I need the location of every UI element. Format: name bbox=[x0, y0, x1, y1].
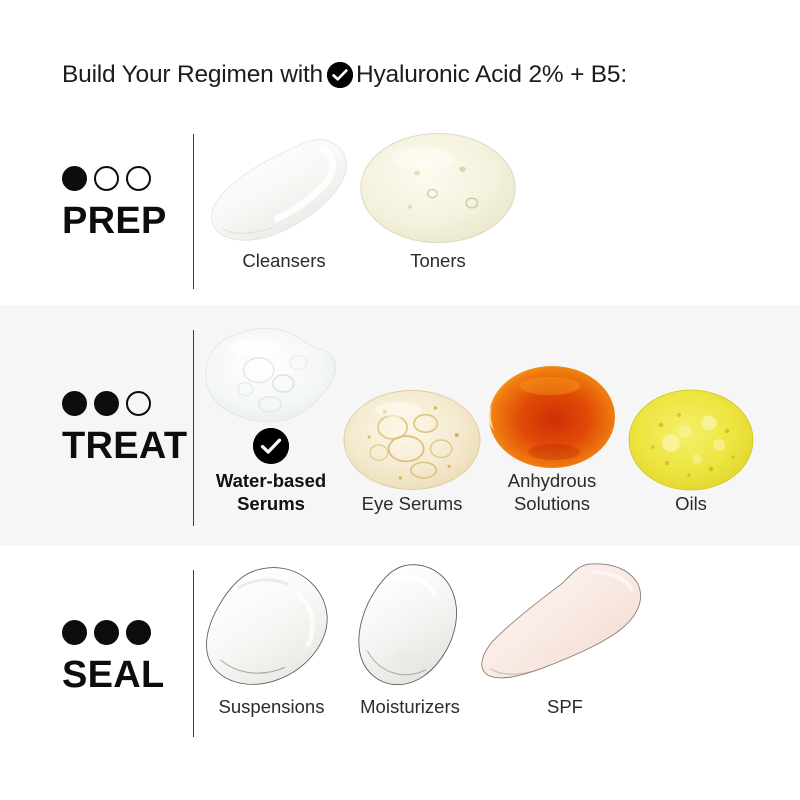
section-divider-prep bbox=[193, 134, 194, 289]
anhydrous-drop-swatch bbox=[482, 364, 622, 470]
stage-label-seal: SEAL bbox=[62, 620, 187, 694]
spf-smear-swatch bbox=[475, 556, 655, 696]
progress-dot-empty bbox=[126, 391, 151, 416]
stage-label-treat: TREAT bbox=[62, 391, 187, 465]
product-label-toners: Toners bbox=[410, 250, 466, 273]
oil-drop-swatch bbox=[622, 387, 760, 493]
product-item-water-based-serums[interactable]: Water-based Serums bbox=[200, 322, 342, 515]
page-title-suffix: Hyaluronic Acid 2% + B5: bbox=[356, 61, 627, 89]
stage-name-seal: SEAL bbox=[62, 656, 187, 694]
section-divider-seal bbox=[193, 570, 194, 737]
stage-label-prep: PREP bbox=[62, 166, 187, 240]
product-item-spf[interactable]: SPF bbox=[475, 556, 655, 719]
progress-dot-empty bbox=[94, 166, 119, 191]
product-label-oils: Oils bbox=[675, 493, 707, 516]
product-item-anhydrous-solutions[interactable]: Anhydrous Solutions bbox=[482, 364, 622, 515]
product-label-cleansers: Cleansers bbox=[242, 250, 325, 273]
product-label-suspensions: Suspensions bbox=[219, 696, 325, 719]
page-title: Build Your Regimen with Hyaluronic Acid … bbox=[62, 55, 762, 95]
product-item-oils[interactable]: Oils bbox=[622, 387, 760, 516]
stage-progress-dots-seal bbox=[62, 620, 187, 645]
check-circle-icon bbox=[253, 428, 289, 464]
product-label-eye-serums: Eye Serums bbox=[362, 493, 463, 516]
product-label-water-based-serums: Water-based Serums bbox=[216, 470, 326, 515]
water-serum-blob-swatch bbox=[200, 322, 342, 428]
stage-progress-dots-prep bbox=[62, 166, 187, 191]
stage-name-treat: TREAT bbox=[62, 427, 187, 465]
product-row-treat: Water-based Serums bbox=[200, 322, 760, 515]
product-item-moisturizers[interactable]: Moisturizers bbox=[339, 556, 481, 719]
stage-name-prep: PREP bbox=[62, 202, 187, 240]
eye-serum-gel-swatch bbox=[342, 387, 482, 493]
product-item-cleansers[interactable]: Cleansers bbox=[205, 126, 363, 273]
progress-dot-filled bbox=[62, 620, 87, 645]
progress-dot-filled bbox=[62, 391, 87, 416]
progress-dot-filled bbox=[126, 620, 151, 645]
toner-blob-swatch bbox=[357, 126, 519, 250]
cleanser-smear-swatch bbox=[205, 126, 363, 250]
product-label-anhydrous-solutions: Anhydrous Solutions bbox=[508, 470, 596, 515]
progress-dot-filled bbox=[94, 391, 119, 416]
product-item-toners[interactable]: Toners bbox=[357, 126, 519, 273]
product-item-eye-serums[interactable]: Eye Serums bbox=[342, 387, 482, 516]
progress-dot-filled bbox=[94, 620, 119, 645]
progress-dot-empty bbox=[126, 166, 151, 191]
check-circle-icon bbox=[327, 62, 353, 88]
moisturizer-smear-swatch bbox=[339, 556, 481, 696]
suspension-smear-swatch bbox=[200, 556, 343, 696]
product-item-suspensions[interactable]: Suspensions bbox=[200, 556, 343, 719]
product-label-spf: SPF bbox=[547, 696, 583, 719]
section-divider-treat bbox=[193, 330, 194, 526]
stage-progress-dots-treat bbox=[62, 391, 187, 416]
progress-dot-filled bbox=[62, 166, 87, 191]
page-title-prefix: Build Your Regimen with bbox=[62, 61, 323, 89]
product-label-moisturizers: Moisturizers bbox=[360, 696, 460, 719]
product-row-prep: Cleansers Toners bbox=[205, 126, 525, 273]
product-row-seal: Suspensions Moisturizers bbox=[200, 556, 670, 719]
